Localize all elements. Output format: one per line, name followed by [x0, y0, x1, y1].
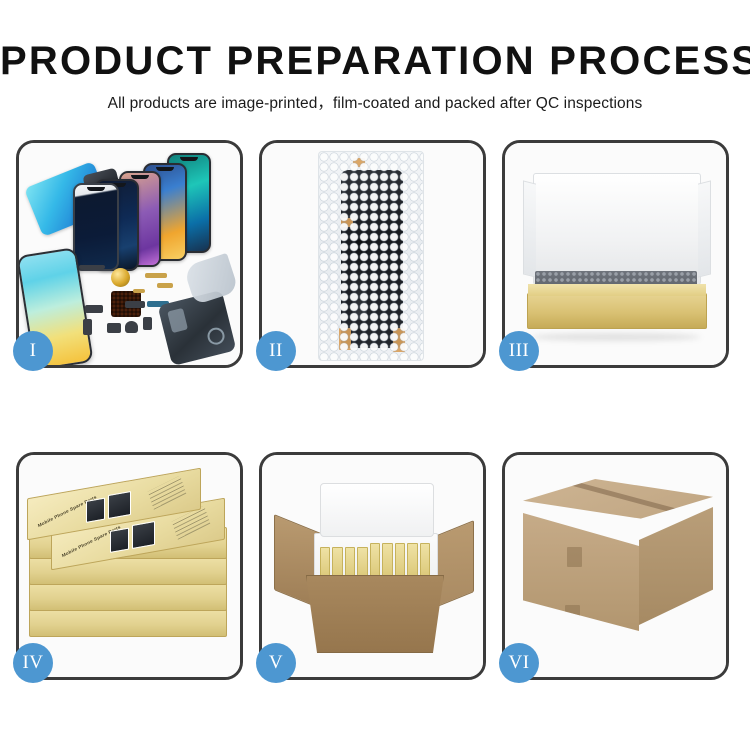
step-panel-4: Mobile Phone Spare Parts Mobile Phone Sp…	[16, 452, 243, 680]
flex-cable-icon	[145, 273, 167, 278]
product-window	[108, 491, 131, 519]
product-window	[110, 528, 129, 553]
chip-icon	[83, 319, 92, 335]
notch-icon	[131, 175, 149, 179]
tape-icon	[565, 605, 580, 625]
step-panel-6: VI	[502, 452, 729, 680]
step-5-image	[262, 455, 483, 677]
carton-body	[306, 575, 444, 653]
chip-icon	[143, 317, 152, 330]
notch-icon	[156, 167, 174, 171]
chip-icon	[107, 323, 121, 333]
process-step-grid: I II	[16, 140, 738, 680]
sealed-carton	[523, 479, 713, 651]
box-tray	[527, 293, 707, 329]
step-badge-4: IV	[13, 643, 53, 683]
step-4-image: Mobile Phone Spare Parts Mobile Phone Sp…	[19, 455, 240, 677]
flex-cable-icon	[157, 283, 173, 288]
bubble-wrap-bag	[318, 151, 424, 361]
step-panel-2: II	[259, 140, 486, 368]
step-2-image	[262, 143, 483, 365]
step-panel-5: V	[259, 452, 486, 680]
carton-front-face	[523, 513, 639, 631]
product-window	[132, 521, 155, 549]
step-badge-5: V	[256, 643, 296, 683]
phone-lineup	[85, 149, 237, 269]
step-panel-3: III	[502, 140, 729, 368]
chip-icon	[125, 301, 145, 308]
box-stack: Mobile Phone Spare Parts Mobile Phone Sp…	[27, 479, 233, 665]
step-1-image	[19, 143, 240, 365]
drop-shadow	[531, 333, 701, 341]
tape-seam	[545, 474, 691, 518]
chip-icon	[85, 305, 103, 313]
print-lines	[148, 476, 187, 510]
carton-open	[274, 481, 474, 657]
step-badge-2: II	[256, 331, 296, 371]
step-6-image	[505, 455, 726, 677]
notch-icon	[87, 187, 105, 191]
flex-cable-icon	[133, 289, 145, 293]
step-badge-1: I	[13, 331, 53, 371]
box-lid	[533, 173, 701, 285]
speaker-icon	[125, 321, 138, 333]
bubble-texture	[319, 152, 423, 360]
step-badge-3: III	[499, 331, 539, 371]
step-badge-6: VI	[499, 643, 539, 683]
inner-box-open	[521, 173, 711, 333]
step-3-image	[505, 143, 726, 365]
page-title: PRODUCT PREPARATION PROCESS	[0, 38, 750, 84]
notch-icon	[180, 157, 198, 161]
chip-icon	[79, 265, 105, 269]
tape-icon	[567, 547, 582, 567]
step-panel-1: I	[16, 140, 243, 368]
screen-glass-panel	[73, 183, 119, 271]
product-preparation-infographic: PRODUCT PREPARATION PROCESS All products…	[0, 0, 750, 750]
header: PRODUCT PREPARATION PROCESS All products…	[0, 38, 750, 113]
carton-side-face	[639, 507, 713, 625]
foam-case-lid	[320, 483, 434, 537]
page-subtitle: All products are image-printed，film-coat…	[0, 91, 750, 113]
product-window	[86, 498, 105, 523]
